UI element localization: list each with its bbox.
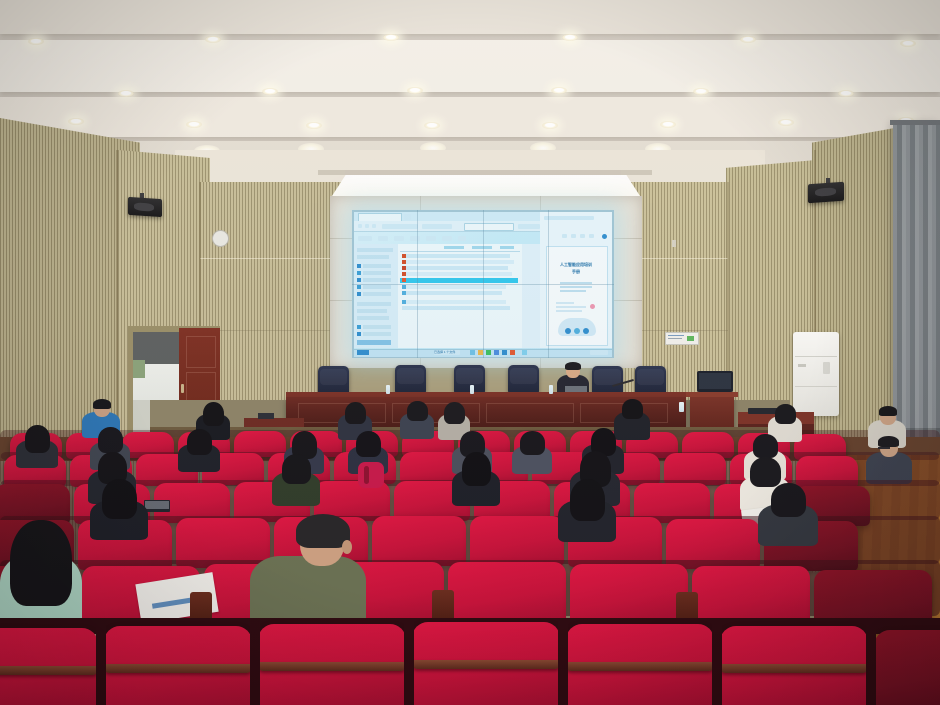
attendee-hair bbox=[102, 479, 137, 519]
window-curtain bbox=[893, 122, 940, 440]
doorway-greenery bbox=[133, 360, 145, 378]
seat bbox=[874, 630, 940, 705]
sidebar-item-all-files[interactable] bbox=[357, 248, 393, 252]
seat bbox=[470, 516, 564, 566]
downlight bbox=[424, 122, 440, 129]
curtain-rail bbox=[890, 120, 940, 125]
front-left-desk-item bbox=[258, 413, 274, 419]
sidebar-item-backup[interactable] bbox=[357, 340, 391, 345]
table-header-rule bbox=[400, 251, 520, 252]
taskbar-icon[interactable] bbox=[486, 350, 491, 355]
seat bbox=[570, 564, 688, 626]
downlight bbox=[28, 38, 44, 45]
breadcrumb[interactable] bbox=[382, 224, 418, 229]
attendee-hair bbox=[356, 431, 381, 457]
attendee-hair bbox=[10, 520, 72, 606]
file-icon-docx bbox=[402, 266, 406, 270]
rename-button[interactable] bbox=[442, 236, 452, 241]
sidebar-item-recent[interactable] bbox=[357, 316, 389, 320]
sidebar-icon-trash bbox=[357, 325, 361, 329]
share-button[interactable] bbox=[410, 236, 420, 241]
led-video-wall[interactable]: 人工智能应用培训 手册 已选择 1 个文件 bbox=[352, 210, 614, 358]
ceiling-panel-1 bbox=[0, 40, 940, 92]
new-folder-button[interactable] bbox=[378, 236, 388, 241]
cell-size bbox=[500, 246, 514, 249]
file-icon-pdf-selected bbox=[402, 278, 406, 282]
table-row[interactable] bbox=[402, 254, 510, 258]
taskbar-start-icon[interactable] bbox=[357, 350, 369, 355]
file-icon-pdf bbox=[402, 272, 406, 276]
folder-icon bbox=[402, 285, 406, 289]
document-title-line2: 手册 bbox=[548, 269, 604, 274]
seat-trim bbox=[104, 664, 252, 673]
cloud-illustration-dot bbox=[583, 328, 589, 334]
taskbar-clock bbox=[590, 350, 608, 355]
attendee-hair bbox=[407, 401, 428, 421]
wall-reveal-line bbox=[200, 330, 345, 331]
lectern-monitor-screen bbox=[699, 373, 731, 389]
seat-gap bbox=[558, 622, 568, 705]
cloud-illustration-dot bbox=[565, 328, 571, 334]
attendee-ear bbox=[342, 540, 352, 554]
document-text-line bbox=[560, 290, 586, 292]
floor-standing-air-conditioner bbox=[793, 332, 839, 416]
attendee-hair bbox=[520, 431, 545, 455]
sidebar-item-favorites[interactable] bbox=[357, 309, 387, 313]
app-tab-add[interactable] bbox=[404, 214, 411, 220]
table-row[interactable] bbox=[402, 260, 514, 264]
sidebar-item-my-shares[interactable] bbox=[357, 302, 391, 306]
attendee-glasses bbox=[878, 447, 890, 449]
presenter-hair bbox=[565, 362, 581, 370]
toolbar-back-icon[interactable] bbox=[358, 224, 362, 228]
attendee-hair bbox=[462, 452, 491, 486]
seat bbox=[372, 516, 466, 566]
downlight bbox=[68, 118, 84, 125]
stage-chair bbox=[635, 366, 666, 394]
water-bottle bbox=[549, 385, 553, 394]
head-table-panel bbox=[486, 403, 574, 423]
attendee-hair bbox=[282, 454, 311, 484]
downlight bbox=[407, 87, 423, 94]
downlight bbox=[383, 34, 399, 41]
document-text-line bbox=[556, 310, 582, 312]
sidebar-item-images[interactable] bbox=[363, 264, 391, 268]
downlight bbox=[551, 87, 567, 94]
wall-sign-line bbox=[668, 338, 682, 339]
preview-toolbar-icon[interactable] bbox=[589, 234, 594, 238]
door-panel-upper bbox=[186, 336, 216, 368]
delete-button[interactable] bbox=[426, 236, 436, 241]
cell-modified bbox=[444, 246, 464, 249]
seat-trim bbox=[720, 664, 868, 673]
downlight bbox=[838, 90, 854, 97]
downlight bbox=[262, 88, 278, 95]
taskbar-icon[interactable] bbox=[470, 350, 475, 355]
stage-chair bbox=[318, 366, 349, 394]
downlight bbox=[205, 36, 221, 43]
backpack bbox=[358, 462, 384, 488]
document-text-line bbox=[560, 286, 592, 288]
seat-gap bbox=[96, 626, 106, 705]
soffit-lip bbox=[318, 170, 652, 175]
attendee-hair bbox=[93, 399, 111, 409]
sidebar-icon-images bbox=[357, 264, 361, 268]
downlight bbox=[186, 121, 202, 128]
seat-gap bbox=[404, 622, 414, 705]
preview-toolbar-icon[interactable] bbox=[580, 234, 585, 238]
seat-trim bbox=[412, 660, 560, 669]
sidebar-item-trash[interactable] bbox=[363, 325, 391, 329]
document-title-line1: 人工智能应用培训 bbox=[548, 262, 604, 267]
document-text-line bbox=[556, 302, 574, 304]
attendee-hair bbox=[879, 406, 897, 416]
lectern-top bbox=[686, 392, 738, 397]
taskbar-icon[interactable] bbox=[502, 350, 507, 355]
attendee-hair bbox=[878, 436, 899, 447]
sidebar-item-shared[interactable] bbox=[357, 255, 389, 259]
taskbar-icon[interactable] bbox=[494, 350, 499, 355]
sidebar-icon-video bbox=[357, 278, 361, 282]
attendee-hair bbox=[750, 457, 781, 487]
downlight bbox=[118, 90, 134, 97]
attendee-hair bbox=[444, 402, 465, 424]
attendee-hair bbox=[187, 429, 212, 455]
cloud-illustration-dot bbox=[574, 328, 580, 334]
attendee-hair bbox=[203, 402, 224, 426]
file-icon-xlsx bbox=[402, 260, 406, 264]
attendee-hair bbox=[753, 434, 778, 458]
seat bbox=[448, 562, 566, 624]
stage-chair bbox=[508, 365, 539, 393]
water-bottle bbox=[386, 385, 390, 394]
ac-display bbox=[823, 362, 830, 374]
attendee-hair bbox=[570, 479, 605, 521]
stage-chair bbox=[395, 365, 426, 393]
toolbar-forward-icon[interactable] bbox=[365, 224, 369, 228]
more-button[interactable] bbox=[458, 236, 466, 241]
seat-gap bbox=[712, 624, 722, 705]
sidebar-item-audio[interactable] bbox=[363, 285, 391, 289]
seat-gap bbox=[250, 624, 260, 705]
wall-clock bbox=[212, 230, 229, 247]
wall-sign-accent bbox=[687, 336, 694, 341]
sidebar-icon-apps bbox=[357, 292, 361, 296]
ac-panel-line bbox=[795, 356, 837, 357]
folder-icon bbox=[402, 300, 406, 304]
downlight bbox=[660, 121, 676, 128]
sidebar-item-apps[interactable] bbox=[363, 292, 391, 296]
sidebar-icon-device bbox=[357, 332, 361, 336]
attendee-laptop-screen bbox=[145, 501, 169, 509]
ac-logo bbox=[798, 364, 806, 367]
downlight bbox=[740, 36, 756, 43]
door-handle[interactable] bbox=[181, 384, 184, 393]
stage-chair bbox=[592, 366, 623, 394]
attendee-hair bbox=[98, 427, 123, 453]
wall-sensor bbox=[672, 240, 676, 247]
led-tile-seam bbox=[352, 284, 614, 285]
downlight bbox=[778, 119, 794, 126]
attendee-hair bbox=[25, 425, 50, 453]
cell-created bbox=[472, 246, 492, 249]
downlight bbox=[693, 88, 709, 95]
downlight bbox=[542, 122, 558, 129]
downlight bbox=[562, 34, 578, 41]
sidebar-item-device[interactable] bbox=[363, 332, 391, 336]
breadcrumb[interactable] bbox=[518, 224, 540, 229]
backpack-strap bbox=[364, 466, 369, 484]
sidebar-icon-docs bbox=[357, 271, 361, 275]
table-row[interactable] bbox=[402, 306, 510, 310]
attendee-hair bbox=[771, 483, 806, 517]
preview-accent-dot bbox=[602, 234, 607, 239]
water-bottle bbox=[470, 385, 474, 394]
document-text-line bbox=[556, 306, 586, 308]
downlight bbox=[306, 122, 322, 129]
file-icon-pptx bbox=[402, 254, 406, 258]
seat-trim bbox=[0, 666, 98, 675]
preview-path-label bbox=[544, 216, 594, 220]
document-accent-mark bbox=[590, 304, 595, 309]
conference-hall-photo: 人工智能应用培训 手册 已选择 1 个文件 bbox=[0, 0, 940, 705]
taskbar-icon[interactable] bbox=[522, 350, 527, 355]
sidebar-item-video[interactable] bbox=[363, 278, 391, 282]
sidebar-icon-audio bbox=[357, 285, 361, 289]
wall-joint bbox=[116, 150, 118, 450]
seat-trim bbox=[258, 662, 406, 671]
seat-trim bbox=[566, 662, 714, 671]
attendee-hair bbox=[775, 404, 796, 424]
attendee-hair bbox=[622, 399, 643, 419]
ceiling-panel-2 bbox=[0, 97, 940, 137]
preview-toolbar-icon[interactable] bbox=[562, 234, 567, 238]
wall-sign-line bbox=[668, 335, 684, 336]
ceiling-panel-back bbox=[0, 0, 940, 34]
folder-icon bbox=[402, 291, 406, 295]
search-input[interactable] bbox=[464, 223, 514, 231]
seat-gap bbox=[866, 628, 876, 705]
taskbar-icon[interactable] bbox=[510, 350, 515, 355]
wall-reveal-line bbox=[200, 258, 345, 259]
upload-button[interactable] bbox=[358, 236, 372, 241]
sidebar-item-docs[interactable] bbox=[363, 271, 391, 275]
water-bottle bbox=[679, 402, 684, 412]
ac-panel-line bbox=[795, 386, 837, 387]
downlight bbox=[900, 40, 916, 47]
status-selection-text: 已选择 1 个文件 bbox=[434, 350, 460, 355]
toolbar-up-icon[interactable] bbox=[372, 224, 376, 228]
attendee-hair bbox=[345, 402, 366, 424]
preview-toolbar-icon[interactable] bbox=[571, 234, 576, 238]
table-row[interactable] bbox=[402, 272, 512, 276]
breadcrumb[interactable] bbox=[422, 224, 452, 229]
download-button[interactable] bbox=[394, 236, 404, 241]
